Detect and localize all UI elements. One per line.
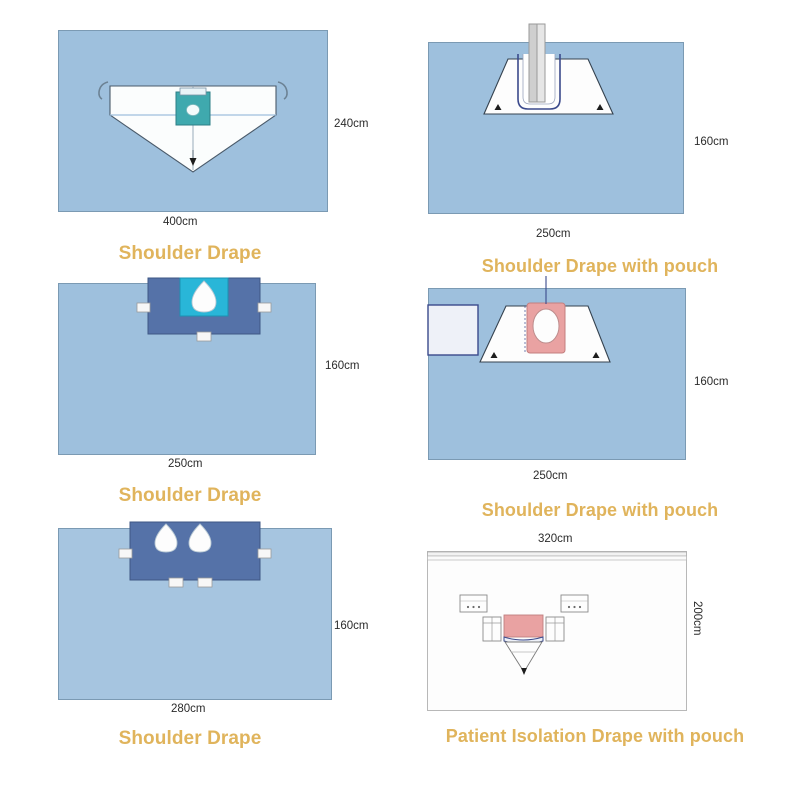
dimension-height-3: 160cm	[325, 360, 360, 372]
product-figure-shoulder-drape-250x160	[58, 283, 316, 455]
tape-tab-right[interactable]	[258, 303, 271, 312]
product-figure-shoulder-drape-pouch-250x160	[428, 42, 684, 214]
product-catalog: 240cm 400cm Shoulder Drape 160cm 250cm S…	[0, 0, 800, 800]
tape-tab-left[interactable]	[119, 549, 132, 558]
pink-pouch	[504, 615, 543, 637]
dimension-height-6: 200cm	[691, 601, 703, 636]
dimension-height-5: 160cm	[334, 620, 369, 632]
drape-illustration-6	[427, 551, 687, 711]
product-title-2: Shoulder Drape with pouch	[400, 256, 800, 277]
product-title-5: Shoulder Drape	[0, 728, 380, 750]
tool-holder-left	[460, 595, 487, 612]
tube-channel-right	[537, 24, 545, 102]
drape-illustration-3	[58, 283, 316, 455]
dimension-width-6: 320cm	[538, 533, 573, 545]
dimension-width-5: 280cm	[171, 703, 206, 715]
product-figure-shoulder-drape-400x240	[58, 30, 328, 212]
product-figure-shoulder-drape-pouch-b-250x160	[428, 288, 686, 460]
product-figure-patient-isolation-drape-320x200	[427, 551, 687, 711]
drape-illustration-4	[428, 288, 686, 460]
instrument-pocket-left	[483, 617, 501, 641]
dimension-width-4: 250cm	[533, 470, 568, 482]
incision-opening	[187, 105, 200, 116]
tape-tab-right[interactable]	[258, 549, 271, 558]
drape-illustration-5	[58, 528, 332, 700]
tape-tab-bottom-right[interactable]	[198, 578, 212, 587]
product-figure-shoulder-drape-280x160	[58, 528, 332, 700]
tool-holder-right	[561, 595, 588, 612]
dimension-height-4: 160cm	[694, 376, 729, 388]
adhesive-strip-upper	[428, 552, 687, 556]
product-title-6: Patient Isolation Drape with pouch	[390, 726, 800, 747]
dimension-width-2: 250cm	[536, 228, 571, 240]
dimension-height-2: 160cm	[694, 136, 729, 148]
dimension-width-1: 400cm	[163, 216, 198, 228]
pouch-frame	[428, 305, 478, 355]
product-title-4: Shoulder Drape with pouch	[400, 500, 800, 521]
dimension-width-3: 250cm	[168, 458, 203, 470]
oval-opening	[533, 309, 559, 343]
window-top-tab	[180, 88, 206, 95]
drape-illustration-2	[428, 42, 684, 214]
adhesive-strip-lower	[428, 556, 687, 560]
product-title-3: Shoulder Drape	[0, 485, 380, 507]
drape-illustration-1	[58, 30, 328, 212]
tape-tab-bottom-left[interactable]	[169, 578, 183, 587]
dimension-height-1: 240cm	[334, 118, 369, 130]
tape-tab-bottom[interactable]	[197, 332, 211, 341]
product-title-1: Shoulder Drape	[0, 243, 380, 265]
tube-channel-left	[529, 24, 537, 102]
tape-tab-left[interactable]	[137, 303, 150, 312]
instrument-pocket-right	[546, 617, 564, 641]
